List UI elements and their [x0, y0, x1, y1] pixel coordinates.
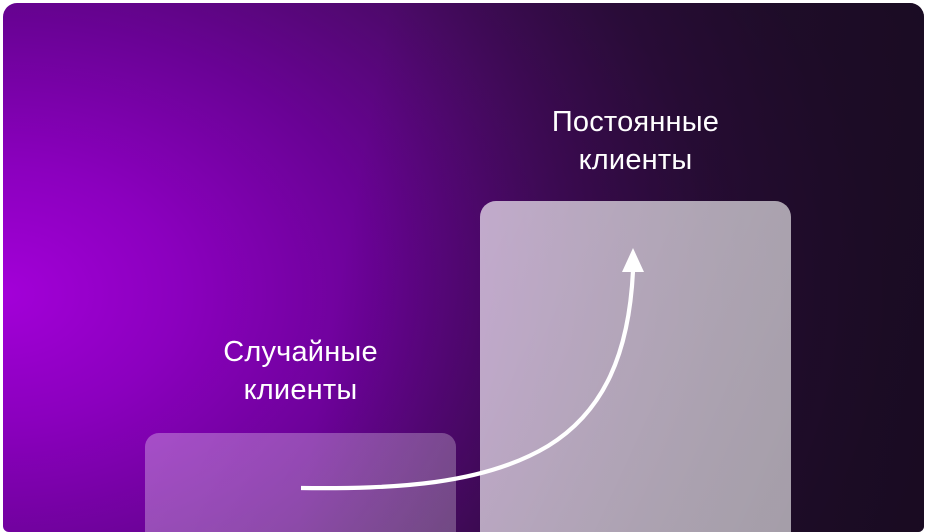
bar-label-casual-clients: Случайные клиенты: [148, 333, 453, 409]
bar-casual-clients: [145, 433, 456, 532]
bar-label-loyal-clients: Постоянные клиенты: [483, 103, 788, 179]
bar-loyal-clients: [480, 201, 791, 532]
gradient-card: Случайные клиенты Постоянные клиенты: [3, 3, 924, 532]
